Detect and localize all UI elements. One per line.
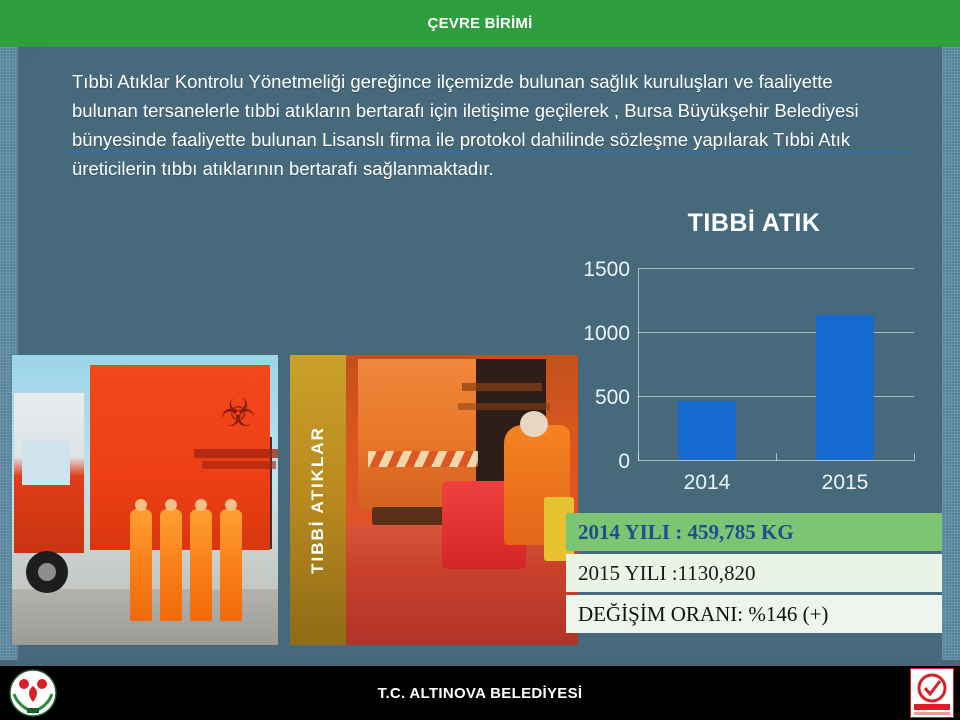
body-paragraph: Tıbbi Atıklar Kontrolu Yönetmeliği gereğ… [72, 67, 862, 183]
photo-worker [160, 509, 182, 621]
chart-x-tick-label: 2014 [684, 471, 731, 495]
chart-y-tick-label: 0 [618, 450, 630, 474]
photo-cab-window [22, 441, 70, 485]
photo-hazard-chevrons [368, 451, 478, 467]
chart-y-tick-label: 500 [595, 386, 630, 410]
biohazard-icon: ☣ [218, 393, 258, 447]
chart-bar-2015 [816, 315, 874, 460]
chart-gridline [638, 268, 914, 269]
photo-caption-text: TIBBİ ATIKLAR [308, 426, 328, 574]
photo-medical-waste-loading: TIBBİ ATIKLAR [290, 355, 578, 645]
photo-medical-waste-truck-crew: ☣ [12, 355, 278, 645]
footer-title: T.C. ALTINOVA BELEDİYESİ [378, 685, 583, 702]
chart-tibbi-atik: TIBBİ ATIK 05001000150020142015 [566, 209, 942, 509]
table-row: 2015 YILI :1130,820 [566, 554, 942, 592]
summary-table: 2014 YILI : 459,785 KG2015 YILI :1130,82… [566, 513, 942, 633]
photo-truck-label-line2 [458, 403, 550, 410]
chart-y-tick-label: 1500 [583, 258, 630, 282]
header-band: ÇEVRE BİRİMİ [0, 0, 960, 47]
photo-truck-cab [14, 393, 84, 553]
chart-x-tick [914, 453, 915, 461]
photo-worker [220, 509, 242, 621]
footer-band: T.C. ALTINOVA BELEDİYESİ [0, 666, 960, 720]
photo-caption-band: TIBBİ ATIKLAR [290, 355, 346, 645]
chart-bar-2014 [678, 401, 736, 460]
photo-worker [190, 509, 212, 621]
chart-x-tick [776, 453, 777, 461]
photo-worker [130, 509, 152, 621]
photo-truck-label-line1 [462, 383, 542, 391]
table-row: DEĞİŞİM ORANI: %146 (+) [566, 595, 942, 633]
table-row: 2014 YILI : 459,785 KG [566, 513, 942, 551]
chart-x-tick-label: 2015 [822, 471, 869, 495]
chart-x-tick [638, 453, 639, 461]
right-edge-strip [942, 46, 960, 660]
chart-title: TIBBİ ATIK [566, 209, 942, 238]
photo-truck-text-line1 [194, 449, 278, 458]
chart-y-tick-label: 1000 [583, 322, 630, 346]
chart-plot-area: 05001000150020142015 [638, 269, 914, 461]
photo-truck-text-line2 [202, 461, 276, 469]
page-title: ÇEVRE BİRİMİ [428, 15, 533, 32]
chart-y-axis [638, 269, 639, 461]
municipality-crest-icon [4, 668, 62, 718]
photo-truck-wheel [26, 551, 68, 593]
content-panel: Tıbbi Atıklar Kontrolu Yönetmeliği gereğ… [18, 47, 942, 660]
certificate-badge-icon [910, 668, 954, 718]
slide-canvas: Tıbbi Atıklar Kontrolu Yönetmeliği gereğ… [0, 0, 960, 720]
